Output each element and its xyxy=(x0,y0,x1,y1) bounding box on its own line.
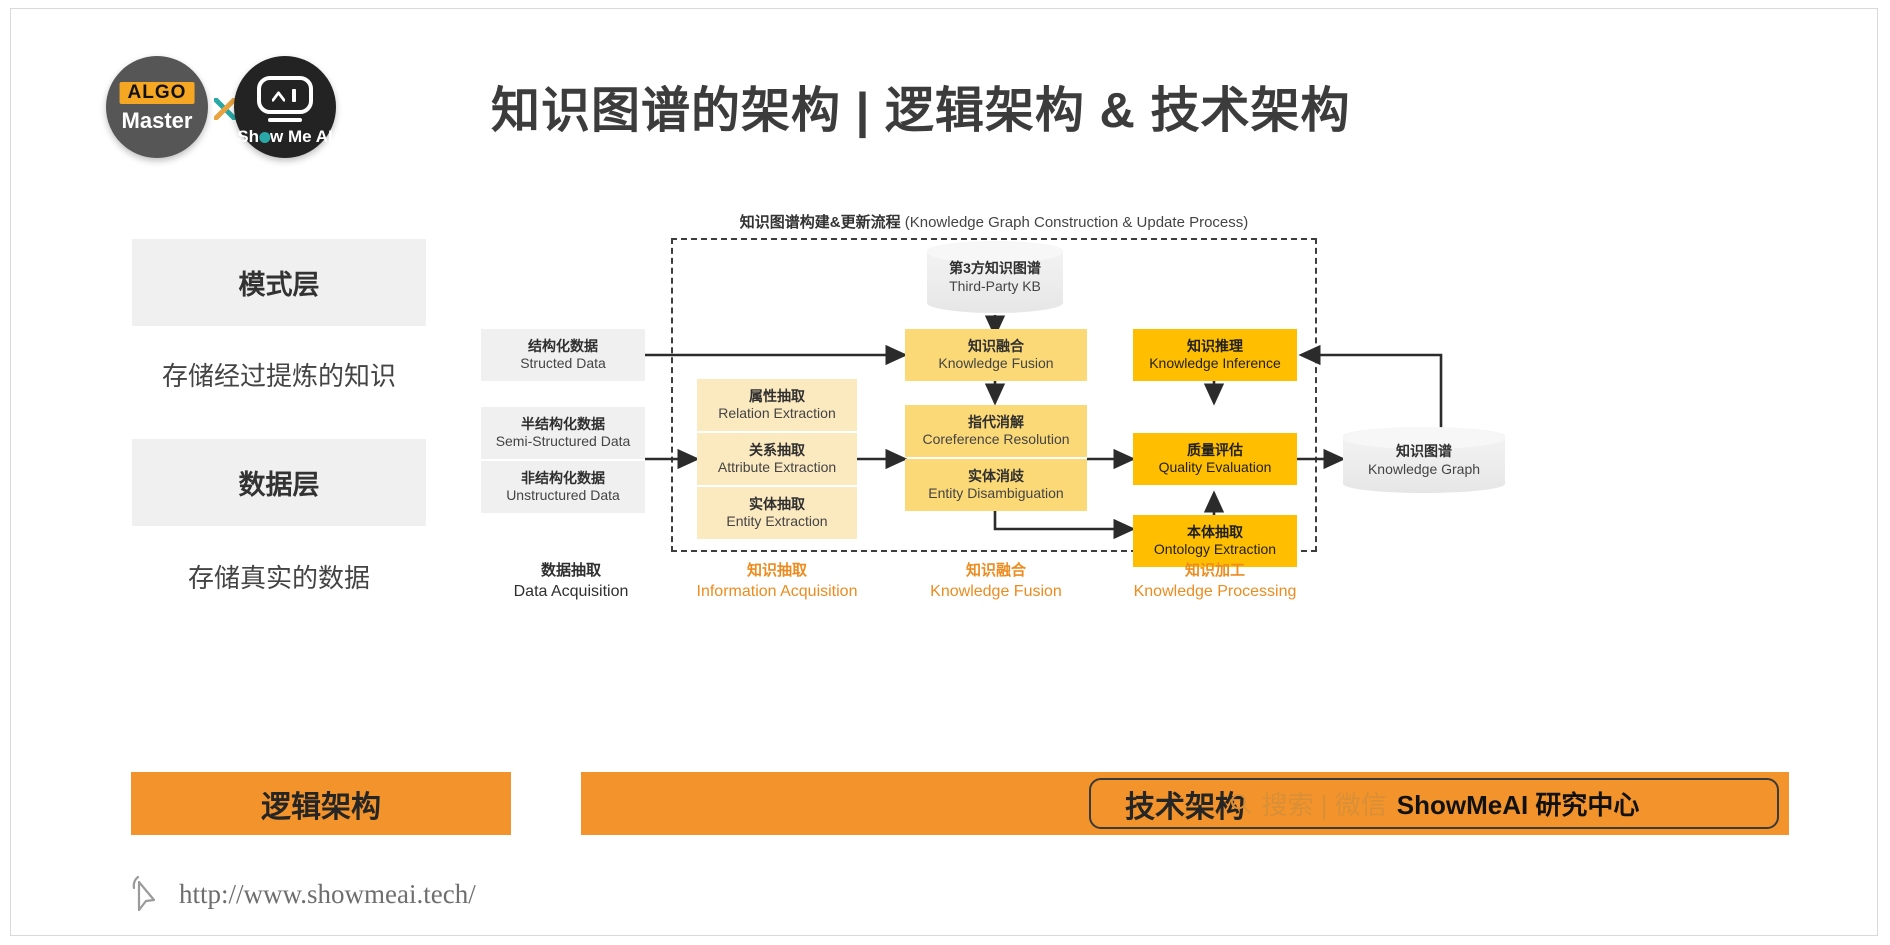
fusion-disambiguation-en: Entity Disambiguation xyxy=(928,485,1063,503)
schema-layer-description: 存储经过提炼的知识 xyxy=(132,356,426,393)
robot-screen-icon xyxy=(257,76,313,114)
source-semi-structured-en: Semi-Structured Data xyxy=(496,433,631,451)
caret-up-icon xyxy=(272,90,285,103)
fusion-knowledge-node: 知识融合 Knowledge Fusion xyxy=(905,329,1087,381)
eye-dot-icon xyxy=(259,132,270,143)
source-structured-cn: 结构化数据 xyxy=(528,338,598,356)
brand-logo: ALGO Master Shw Me AI xyxy=(106,54,346,164)
robot-eye-bar-icon xyxy=(292,89,296,102)
processing-quality-node: 质量评估 Quality Evaluation xyxy=(1133,433,1297,485)
diagram-caption-cn: 知识图谱构建&更新流程 xyxy=(740,214,901,231)
algomaster-logo-circle: ALGO Master xyxy=(106,56,208,158)
knowledge-graph-node: 知识图谱 Knowledge Graph xyxy=(1343,427,1505,493)
data-layer-description: 存储真实的数据 xyxy=(132,558,426,595)
extraction-entity-cn: 实体抽取 xyxy=(749,496,805,514)
wechat-search-pill[interactable]: 搜索 | 微信 ShowMeAI 研究中心 xyxy=(1089,778,1779,829)
extraction-relation-node: 属性抽取 Relation Extraction xyxy=(697,379,857,431)
extraction-relation-en: Relation Extraction xyxy=(718,405,836,423)
showmeai-wordmark: Shw Me AI xyxy=(237,126,332,148)
source-unstructured-cn: 非结构化数据 xyxy=(521,470,605,488)
wechat-account-name: ShowMeAI 研究中心 xyxy=(1397,785,1640,822)
processing-ontology-en: Ontology Extraction xyxy=(1154,541,1276,559)
diagram-caption: 知识图谱构建&更新流程 (Knowledge Graph Constructio… xyxy=(671,211,1317,232)
cursor-icon xyxy=(129,874,165,914)
stage-data-acquisition-cn: 数据抽取 xyxy=(491,561,651,581)
fusion-coreference-en: Coreference Resolution xyxy=(922,431,1069,449)
source-structured-en: Structed Data xyxy=(520,355,606,373)
search-icon xyxy=(1229,792,1252,815)
extraction-attribute-en: Attribute Extraction xyxy=(718,459,836,477)
fusion-disambiguation-node: 实体消歧 Entity Disambiguation xyxy=(905,459,1087,511)
source-semi-structured-cn: 半结构化数据 xyxy=(521,416,605,434)
stage-knowledge-processing: 知识加工 Knowledge Processing xyxy=(1121,561,1309,603)
extraction-relation-cn: 属性抽取 xyxy=(749,388,805,406)
page-title: 知识图谱的架构 | 逻辑架构 & 技术架构 xyxy=(491,71,1351,142)
showmeai-prefix: Sh xyxy=(237,127,259,146)
fusion-disambiguation-cn: 实体消歧 xyxy=(968,468,1024,486)
extraction-entity-en: Entity Extraction xyxy=(726,513,827,531)
source-semi-structured-node: 半结构化数据 Semi-Structured Data xyxy=(481,407,645,459)
algo-badge-label: ALGO xyxy=(120,82,195,104)
source-unstructured-node: 非结构化数据 Unstructured Data xyxy=(481,461,645,513)
diagram-caption-en: (Knowledge Graph Construction & Update P… xyxy=(905,214,1249,231)
processing-quality-cn: 质量评估 xyxy=(1187,442,1243,460)
extraction-entity-node: 实体抽取 Entity Extraction xyxy=(697,487,857,539)
fusion-coreference-cn: 指代消解 xyxy=(968,414,1024,432)
third-party-kb-cn: 第3方知识图谱 xyxy=(949,259,1041,277)
processing-ontology-cn: 本体抽取 xyxy=(1187,524,1243,542)
source-unstructured-en: Unstructured Data xyxy=(506,487,620,505)
extraction-attribute-node: 关系抽取 Attribute Extraction xyxy=(697,433,857,485)
showmeai-suffix: w Me AI xyxy=(270,127,333,146)
processing-quality-en: Quality Evaluation xyxy=(1159,459,1272,477)
master-label: Master xyxy=(122,108,193,134)
slide-frame: ALGO Master Shw Me AI 知识图谱的架构 | 逻辑架构 & 技… xyxy=(10,8,1878,936)
fusion-knowledge-cn: 知识融合 xyxy=(968,338,1024,356)
technical-architecture-bar: 技术架构 搜索 | 微信 ShowMeAI 研究中心 xyxy=(581,772,1789,835)
extraction-attribute-cn: 关系抽取 xyxy=(749,442,805,460)
third-party-kb-node: 第3方知识图谱 Third-Party KB xyxy=(927,241,1063,313)
stage-data-acquisition-en: Data Acquisition xyxy=(491,581,651,603)
stage-knowledge-processing-en: Knowledge Processing xyxy=(1121,581,1309,603)
fusion-knowledge-en: Knowledge Fusion xyxy=(938,355,1053,373)
stage-knowledge-fusion: 知识融合 Knowledge Fusion xyxy=(905,561,1087,603)
stage-information-acquisition-en: Information Acquisition xyxy=(667,581,887,603)
third-party-kb-en: Third-Party KB xyxy=(949,277,1041,295)
processing-inference-cn: 知识推理 xyxy=(1187,338,1243,356)
stage-knowledge-processing-cn: 知识加工 xyxy=(1121,561,1309,581)
processing-inference-node: 知识推理 Knowledge Inference xyxy=(1133,329,1297,381)
logical-architecture-bar: 逻辑架构 xyxy=(131,772,511,835)
stage-data-acquisition: 数据抽取 Data Acquisition xyxy=(491,561,651,603)
search-hint-text: 搜索 | 微信 xyxy=(1262,785,1387,822)
schema-layer-box: 模式层 xyxy=(132,239,426,326)
stage-information-acquisition: 知识抽取 Information Acquisition xyxy=(667,561,887,603)
processing-inference-en: Knowledge Inference xyxy=(1149,355,1281,373)
fusion-coreference-node: 指代消解 Coreference Resolution xyxy=(905,405,1087,457)
cross-icon xyxy=(214,98,236,120)
footer-url: http://www.showmeai.tech/ xyxy=(179,879,476,910)
stage-knowledge-fusion-cn: 知识融合 xyxy=(905,561,1087,581)
data-layer-box: 数据层 xyxy=(132,439,426,526)
showmeai-logo-circle: Shw Me AI xyxy=(234,56,336,158)
stage-information-acquisition-cn: 知识抽取 xyxy=(667,561,887,581)
stage-knowledge-fusion-en: Knowledge Fusion xyxy=(905,581,1087,603)
knowledge-graph-en: Knowledge Graph xyxy=(1368,460,1480,478)
source-structured-node: 结构化数据 Structed Data xyxy=(481,329,645,381)
knowledge-graph-cn: 知识图谱 xyxy=(1396,442,1452,460)
footer: http://www.showmeai.tech/ xyxy=(129,874,476,914)
processing-ontology-node: 本体抽取 Ontology Extraction xyxy=(1133,515,1297,567)
robot-stand-icon xyxy=(268,118,302,122)
technical-architecture-diagram: 知识图谱构建&更新流程 (Knowledge Graph Constructio… xyxy=(481,209,1881,709)
